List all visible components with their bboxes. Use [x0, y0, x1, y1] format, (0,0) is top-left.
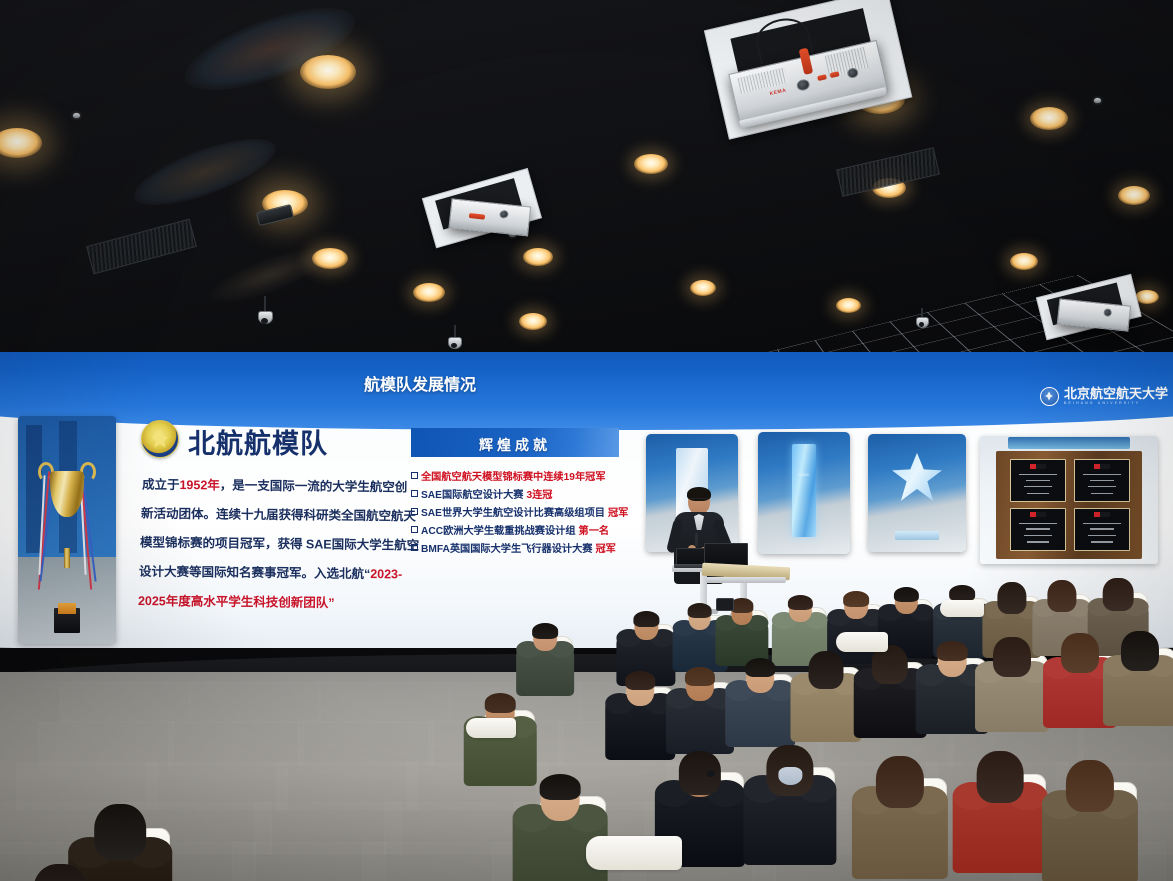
- sae-plaque: [1074, 459, 1129, 502]
- audience-member: [516, 620, 574, 701]
- person-hair: [843, 591, 868, 607]
- slide-body-line: 成立于1952年，是一支国际一流的大学生航空创: [142, 474, 408, 496]
- chair-tablet-arm: [836, 632, 888, 652]
- trophy-photo-gold-cup: [18, 416, 116, 644]
- achievement-text-red: 第一名: [579, 522, 610, 537]
- line-seg-highlight: 1952年: [179, 478, 219, 492]
- hair-tie: [707, 770, 716, 777]
- achievement-text: SAE国际航空设计大赛: [421, 486, 523, 501]
- line-seg: ，是一支国际一流的大学生航空创: [220, 478, 408, 494]
- downlight: [312, 248, 348, 269]
- achievement-item: SAE世界大学生航空设计比赛高级组项目冠军: [411, 504, 628, 519]
- audience-member: [725, 655, 795, 753]
- lens-flare: [127, 126, 283, 219]
- person-hair-long: [94, 804, 146, 860]
- person-hair-long: [876, 756, 924, 808]
- line-seg: 模型锦标赛的项目冠军，获得 SAE国际大学生航空: [140, 536, 419, 553]
- person-hair-long: [808, 651, 844, 690]
- person-hair: [625, 671, 655, 690]
- achievement-item: BMFA英国国际大学生飞行器设计大赛冠军: [411, 540, 616, 555]
- person-hair: [788, 595, 813, 611]
- achievement-text: ACC欧洲大学生载重挑战赛设计组: [421, 522, 576, 537]
- line-seg: 新活动团体。连续十九届获得科研类全国航空航天: [141, 507, 416, 524]
- slide-body-line: 2025年度高水平学生科技创新团队”: [138, 590, 335, 611]
- audience-member: [1042, 756, 1138, 881]
- checkbox-icon: [411, 508, 418, 515]
- microphone: [695, 533, 698, 546]
- downlight: [1118, 186, 1150, 205]
- audience-member: [852, 752, 948, 881]
- photo-star-crystal-award: [868, 434, 966, 552]
- person-hair: [685, 667, 715, 686]
- line-seg: 设计大赛等国际知名赛事冠军。入选北航“: [139, 565, 370, 581]
- achievements-header: 辉煌成就: [411, 428, 619, 457]
- downlight: [0, 128, 42, 158]
- person-hair-long: [1061, 633, 1098, 673]
- lecture-hall-photo: KEMA: [0, 0, 1173, 881]
- downlight: [836, 298, 861, 313]
- downlight: [519, 313, 547, 330]
- person-hair-long: [976, 751, 1024, 802]
- checkbox-icon: [411, 472, 418, 479]
- person-hair: [633, 611, 659, 627]
- achievement-text: SAE世界大学生航空设计比赛高级组项目: [421, 504, 605, 519]
- sae-plaque: [1010, 459, 1065, 502]
- person-hair-long: [1047, 580, 1077, 612]
- crystal-star-award: [891, 453, 943, 503]
- person-hair-long: [33, 864, 87, 881]
- audience-member: [1103, 628, 1173, 732]
- photo-sae-plaque-wall: [980, 436, 1158, 564]
- slide-body-line: 模型锦标赛的项目冠军，获得 SAE国际大学生航空: [140, 532, 419, 554]
- security-camera: [916, 308, 928, 334]
- chair-tablet-arm: [940, 600, 984, 617]
- downlight: [1030, 107, 1068, 130]
- air-vent: [86, 219, 197, 275]
- sae-logo-icon: [1030, 512, 1046, 517]
- downlight: [523, 248, 553, 266]
- downlight: [300, 55, 356, 89]
- plaque-banner: [1008, 437, 1129, 449]
- person-hair-long: [993, 637, 1030, 677]
- sae-plaque: [1010, 508, 1065, 551]
- audience-member: [666, 664, 734, 760]
- achievement-text-red: 冠军: [595, 540, 615, 555]
- crystal-caption: CADC: [792, 472, 816, 477]
- audience-member: [6, 860, 113, 881]
- downlight: [413, 283, 445, 302]
- slide-body-line: 设计大赛等国际知名赛事冠军。入选北航“2023-: [139, 561, 402, 583]
- checkbox-icon: [411, 526, 418, 533]
- photo-cadc-crystal-tower: CADC: [758, 432, 850, 554]
- person-hair-long: [1121, 631, 1158, 671]
- ceiling-speaker: [256, 204, 294, 226]
- achievement-item: 全国航空航天模型锦标赛中连续19年冠军: [411, 468, 606, 483]
- person-hair: [540, 774, 580, 800]
- downlight: [634, 154, 668, 174]
- audience-member: [743, 742, 836, 873]
- crystal-award: CADC: [792, 444, 816, 537]
- sae-logo-icon: [1030, 464, 1046, 469]
- person-hair: [745, 658, 775, 677]
- achievement-item: SAE国际航空设计大赛3连冠: [411, 486, 553, 501]
- chair-tablet-arm: [586, 836, 682, 870]
- checkbox-icon: [411, 544, 418, 551]
- trophy-stem: [64, 548, 70, 568]
- sae-plaque: [1074, 508, 1129, 551]
- audience-member: [953, 748, 1048, 881]
- person-hair: [484, 693, 515, 713]
- line-seg-highlight: 2023-: [370, 567, 402, 581]
- trophy-plaque: [58, 603, 76, 614]
- presenter-glasses: [690, 498, 708, 503]
- downlight: [1010, 253, 1038, 270]
- achievement-text-red: 冠军: [608, 504, 628, 519]
- team-emblem-icon: [141, 420, 179, 458]
- chair-tablet-arm: [466, 718, 516, 738]
- line-seg-highlight: 2025年度高水平学生科技创新团队”: [138, 594, 335, 610]
- ceiling-projector-main: KEMA: [704, 0, 912, 147]
- person-hair: [936, 641, 967, 661]
- achievement-item: ACC欧洲大学生载重挑战赛设计组第一名: [411, 522, 609, 537]
- sprinkler-head: [73, 113, 80, 118]
- achievements-header-title: 辉煌成就: [411, 435, 619, 455]
- crystal-award-plate: [895, 531, 939, 540]
- person-hair-long: [997, 582, 1027, 614]
- achievement-text: BMFA英国国际大学生飞行器设计大赛: [421, 540, 592, 555]
- sae-logo-icon: [1094, 464, 1110, 469]
- sae-logo-icon: [1094, 512, 1110, 517]
- sprinkler-head: [1094, 98, 1101, 103]
- person-hair-long: [1103, 578, 1134, 611]
- person-hair-long: [1066, 760, 1114, 812]
- person-hair: [688, 603, 712, 618]
- smartphone: [716, 598, 734, 611]
- lens-flare: [176, 0, 365, 107]
- achievement-text-red: 全国航空航天模型锦标赛中连续19年冠军: [421, 468, 606, 483]
- audience-member: [790, 648, 861, 748]
- security-camera: [258, 296, 272, 330]
- checkbox-icon: [411, 490, 418, 497]
- downlight: [690, 280, 716, 296]
- person-hair: [894, 587, 919, 603]
- slide-body-line: 新活动团体。连续十九届获得科研类全国航空航天: [141, 503, 416, 525]
- security-camera: [448, 325, 461, 355]
- person-hair: [532, 623, 557, 639]
- downlight: [1135, 290, 1159, 304]
- person-hair: [949, 585, 974, 601]
- achievement-text-red: 3连冠: [526, 486, 552, 501]
- audience-member: [975, 634, 1049, 738]
- team-title: 北航航模队: [188, 422, 328, 461]
- line-seg: 成立于: [142, 478, 180, 492]
